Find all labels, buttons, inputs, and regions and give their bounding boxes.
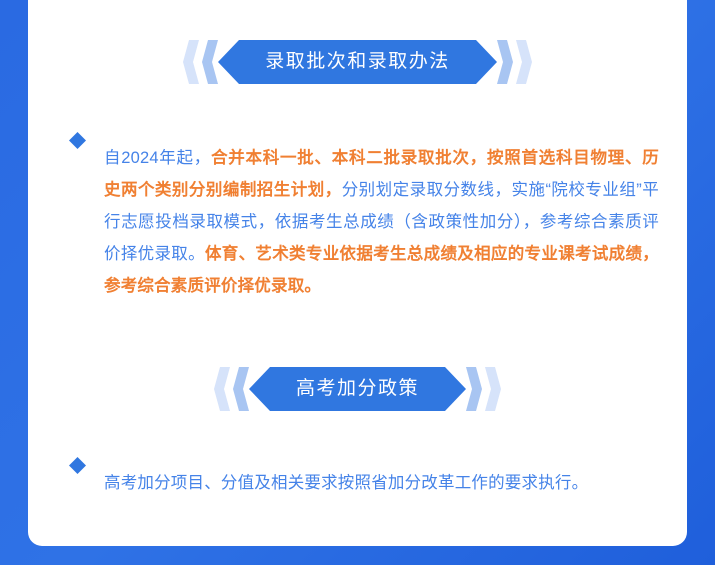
text-run: 自2024年起， [104,149,211,167]
section-banner-bonus-policy: 高考加分政策 [28,365,687,413]
chevron-left-outer-icon [214,367,230,411]
content-card: 录取批次和录取办法 [28,0,687,546]
diamond-bullet-icon [69,457,86,474]
chevron-left-outer-icon [183,40,199,84]
bullet-section-recruitment: 自2024年起，合并本科一批、本科二批录取批次，按照首选科目物理、历史两个类别分… [69,125,659,318]
chevron-right-inner-icon [497,40,513,84]
chevron-left-inner-icon [202,40,218,84]
paragraph-bonus-policy: 高考加分项目、分值及相关要求按照省加分改革工作的要求执行。 [104,467,588,499]
diamond-bullet-icon [69,132,86,149]
page-root: 录取批次和录取办法 [0,0,715,565]
banner-plate-bonus-policy: 高考加分政策 [270,367,445,411]
chevron-right-outer-icon [516,40,532,84]
banner-title: 录取批次和录取办法 [265,40,450,84]
text-run: 高考加分项目、分值及相关要求按照省加分改革工作的要求执行。 [104,474,588,492]
banner-title: 高考加分政策 [296,367,419,411]
paragraph-recruitment: 自2024年起，合并本科一批、本科二批录取批次，按照首选科目物理、历史两个类别分… [104,142,659,302]
banner-wrap: 高考加分政策 [214,365,501,413]
chevron-left-inner-icon [233,367,249,411]
banner-wrap: 录取批次和录取办法 [183,38,532,86]
chevron-right-inner-icon [466,367,482,411]
banner-plate-recruitment: 录取批次和录取办法 [239,40,476,84]
chevron-right-outer-icon [485,367,501,411]
bullet-section-bonus-policy: 高考加分项目、分值及相关要求按照省加分改革工作的要求执行。 [69,450,659,515]
section-banner-recruitment: 录取批次和录取办法 [28,38,687,86]
